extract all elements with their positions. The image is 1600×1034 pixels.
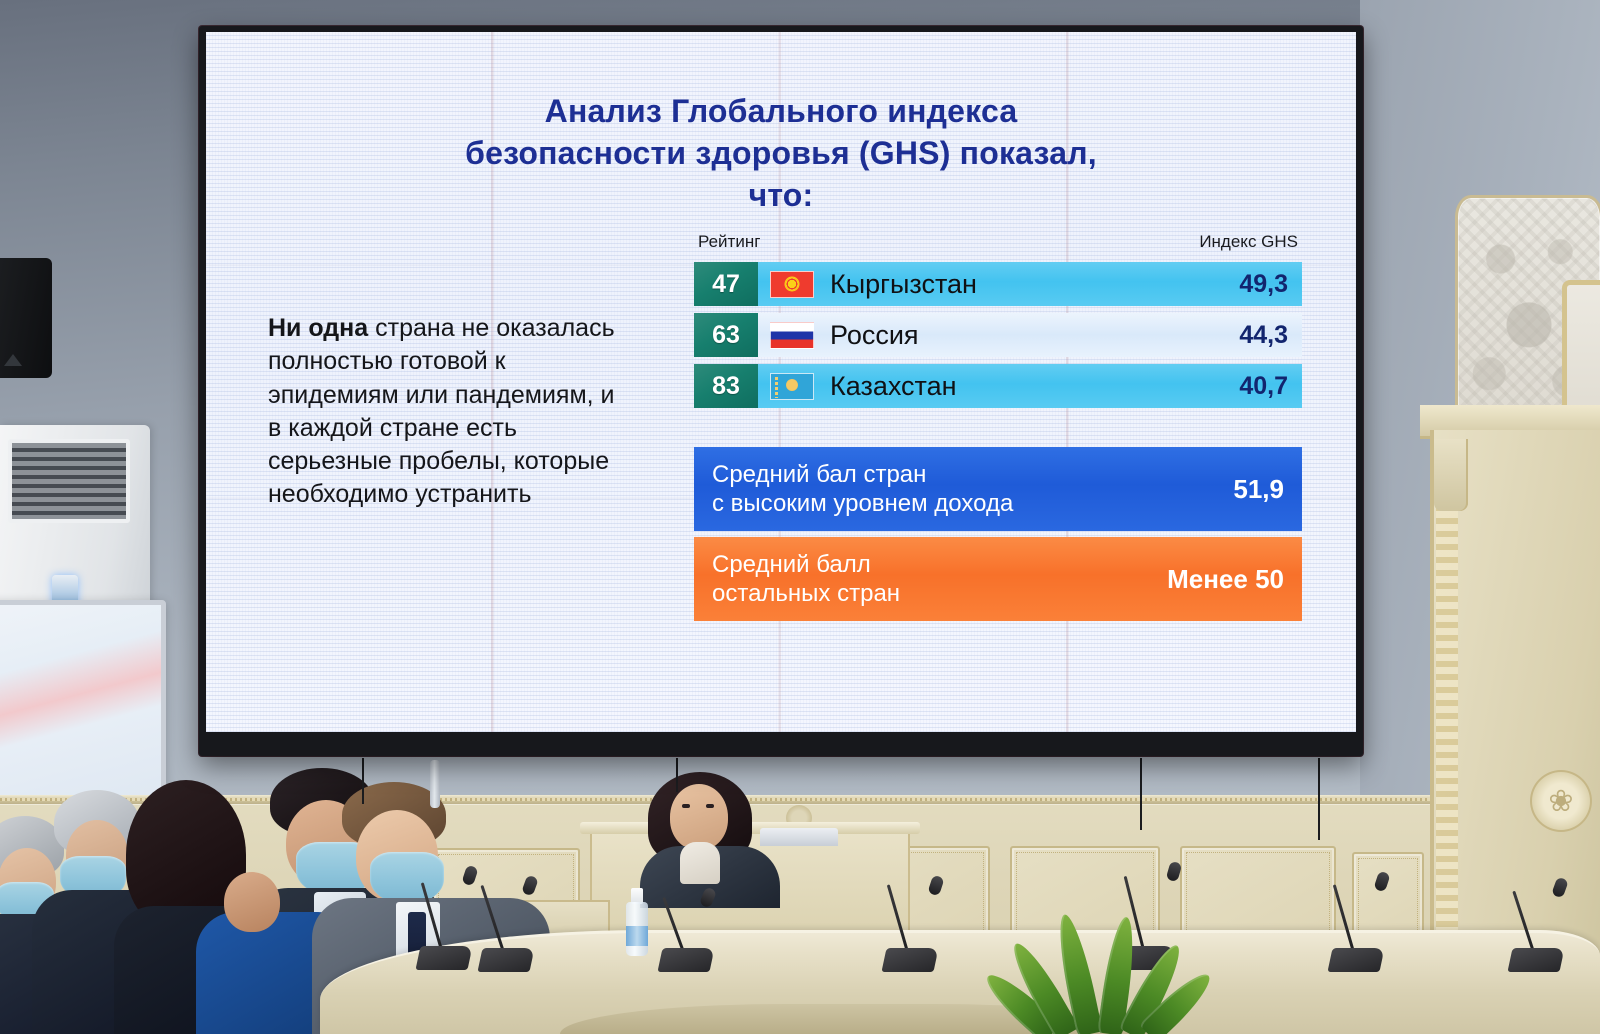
microphone-head <box>521 875 539 897</box>
microphone-stem <box>662 897 685 953</box>
summary-bar-label: Средний бал стран с высоким уровнем дохо… <box>712 460 1013 519</box>
ghs-ranking-table: Рейтинг Индекс GHS 47 Кыргызстан 49,3 63… <box>694 232 1302 415</box>
summary-bar-label-line-2: с высоким уровнем дохода <box>712 490 1013 517</box>
summary-bar-value: Менее 50 <box>1167 564 1284 595</box>
summary-bar-other-countries: Средний балл остальных стран Менее 50 <box>694 537 1302 621</box>
microphone-stem <box>421 882 443 950</box>
wall-conduit <box>430 760 440 808</box>
microphone-base <box>657 948 714 972</box>
hanging-cable <box>362 758 364 804</box>
fleur-de-lis-medallion-icon <box>1530 770 1592 832</box>
wall-speaker <box>0 258 52 378</box>
country-name: Россия <box>830 320 919 351</box>
table-row: 47 Кыргызстан 49,3 <box>694 262 1302 306</box>
face <box>670 784 728 850</box>
slide-paragraph-rest: страна не оказалась полностью готовой к … <box>268 314 615 508</box>
microphone-head <box>927 875 944 897</box>
microphone-stem <box>480 885 504 953</box>
flag-kazakhstan-icon <box>770 373 814 400</box>
microphone-head <box>1551 877 1569 899</box>
table-header: Рейтинг Индекс GHS <box>694 232 1302 262</box>
microphone-stem <box>887 884 909 952</box>
summary-bar-label: Средний балл остальных стран <box>712 550 900 609</box>
eye-left <box>682 804 690 808</box>
table-microphone <box>480 876 550 972</box>
eye-right <box>706 804 714 808</box>
potted-plant <box>985 900 1215 1034</box>
flag-kyrgyzstan-icon <box>770 271 814 298</box>
column-header-rank: Рейтинг <box>698 232 760 252</box>
microphone-stem <box>1333 884 1355 952</box>
table-microphone <box>884 876 954 972</box>
hanging-cable <box>676 758 678 792</box>
table-microphone <box>418 866 488 970</box>
rank-badge: 47 <box>694 262 758 306</box>
microphone-stem <box>1512 891 1535 953</box>
microphone-head <box>699 886 717 908</box>
flag-russia-icon <box>770 322 814 349</box>
laptop <box>760 828 838 846</box>
microphone-base <box>477 948 534 972</box>
column-header-index: Индекс GHS <box>1199 232 1298 252</box>
table-row: 83 Казахстан 40,7 <box>694 364 1302 408</box>
summary-bar-label-line-2: остальных стран <box>712 580 900 607</box>
rank-badge: 63 <box>694 313 758 357</box>
slide-paragraph: Ни одна страна не оказалась полностью го… <box>268 312 628 512</box>
slide-paragraph-emphasis: Ни одна <box>268 314 368 342</box>
table-microphone <box>1330 872 1400 972</box>
table-microphone <box>660 886 730 972</box>
ghs-index-value: 44,3 <box>1239 321 1288 350</box>
country-name: Кыргызстан <box>830 269 977 300</box>
turtleneck <box>680 842 720 884</box>
slide-title-ghs-abbr: GHS <box>870 135 940 171</box>
corbel-bracket <box>1434 439 1468 511</box>
summary-bar-high-income: Средний бал стран с высоким уровнем дохо… <box>694 447 1302 531</box>
ghs-index-value: 40,7 <box>1239 372 1288 401</box>
summary-bar-value: 51,9 <box>1233 474 1284 505</box>
summary-bar-label-line-1: Средний балл <box>712 551 871 578</box>
conference-room-scene: Анализ Глобального индекса безопасности … <box>0 0 1600 1034</box>
hanging-cable <box>1318 758 1320 840</box>
podium-speaker-person <box>648 772 768 880</box>
country-name: Казахстан <box>830 371 957 402</box>
slide-title: Анализ Глобального индекса безопасности … <box>421 90 1141 217</box>
face <box>224 872 280 932</box>
microphone-base <box>881 948 938 972</box>
microphone-head <box>461 865 478 887</box>
presentation-screen: Анализ Глобального индекса безопасности … <box>206 32 1356 732</box>
table-row: 63 Россия 44,3 <box>694 313 1302 357</box>
bottle-label <box>626 926 648 946</box>
summary-bar-label-line-1: Средний бал стран <box>712 461 926 488</box>
microphone-base <box>1507 948 1564 972</box>
water-bottle <box>626 888 648 956</box>
ghs-index-value: 49,3 <box>1239 270 1288 299</box>
slide-title-line-2-post: ) показал, <box>940 135 1097 171</box>
microphone-base <box>1327 948 1384 972</box>
slide-title-line-2-pre: безопасности здоровья ( <box>465 135 870 171</box>
presentation-screen-frame: Анализ Глобального индекса безопасности … <box>199 26 1363 756</box>
table-microphone <box>1510 878 1580 972</box>
slide-title-line-1: Анализ Глобального индекса <box>545 93 1018 129</box>
hanging-cable <box>1140 758 1142 830</box>
slide-content: Анализ Глобального индекса безопасности … <box>206 32 1356 732</box>
microphone-head <box>1373 871 1390 893</box>
slide-title-line-3: что: <box>749 177 814 213</box>
ac-grille <box>8 439 130 523</box>
microphone-head <box>1166 861 1183 883</box>
microphone-base <box>415 946 472 970</box>
auxiliary-monitor <box>0 600 166 800</box>
rank-badge: 83 <box>694 364 758 408</box>
